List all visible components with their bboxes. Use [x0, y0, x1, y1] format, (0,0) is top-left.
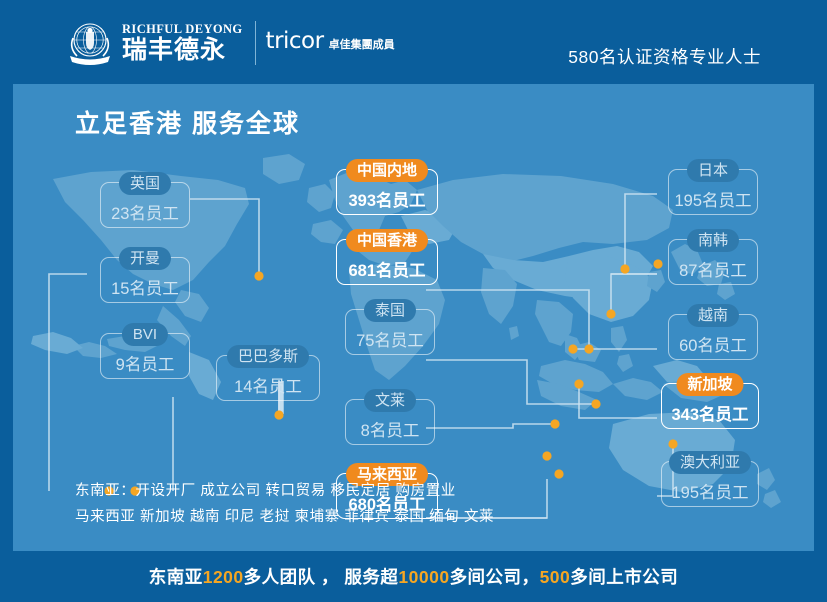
location-name: 澳大利亚	[669, 451, 751, 474]
logo-english-name: RICHFUL DEYONG	[122, 22, 243, 36]
location-count: 15名员工	[101, 281, 189, 298]
footer-number-2: 10000	[398, 567, 449, 587]
notes-block: 东南亚：开设开厂 成立公司 转口贸易 移民定居 购房置业 马来西亚 新加坡 越南…	[75, 478, 494, 530]
location-count: 8名员工	[346, 423, 434, 440]
location-count: 23名员工	[101, 206, 189, 223]
location-count: 195名员工	[662, 485, 758, 502]
location-count: 681名员工	[337, 263, 437, 280]
location-card-brunei[interactable]: 文莱 8名员工	[345, 399, 435, 445]
location-count: 343名员工	[662, 407, 758, 424]
location-card-australia[interactable]: 澳大利亚 195名员工	[661, 461, 759, 507]
footer-number-1: 1200	[203, 567, 244, 587]
location-count: 14名员工	[217, 379, 319, 396]
location-count: 87名员工	[669, 263, 757, 280]
location-card-china-mainland[interactable]: 中国内地 393名员工	[336, 169, 438, 215]
logo-wordmark: RICHFUL DEYONG 瑞丰德永	[122, 22, 243, 64]
location-name: 新加坡	[676, 373, 743, 396]
footer-seg-1: 东南亚	[149, 567, 203, 587]
location-name: 越南	[687, 304, 739, 327]
world-map-panel: 立足香港 服务全球 .land { fill:#5ea3cf; } .land2…	[13, 84, 814, 551]
location-count: 195名员工	[669, 193, 757, 210]
location-card-bvi[interactable]: BVI 9名员工	[100, 333, 190, 379]
location-count: 60名员工	[669, 338, 757, 355]
location-card-vietnam[interactable]: 越南 60名员工	[668, 314, 758, 360]
location-name: 日本	[687, 159, 739, 182]
location-card-south-korea[interactable]: 南韩 87名员工	[668, 239, 758, 285]
footer-seg-2: 多人团队 ， 服务超	[244, 567, 399, 587]
location-name: 中国香港	[346, 229, 428, 252]
shield-crest-logo-icon	[64, 18, 116, 68]
location-name: 文莱	[364, 389, 416, 412]
page-header: RICHFUL DEYONG 瑞丰德永 tricor 卓佳集團成員 580名认证…	[0, 0, 827, 84]
footer-summary: 东南亚1200多人团队 ， 服务超10000多间公司，500多间上市公司	[149, 564, 679, 589]
header-tagline: 580名认证资格专业人士	[568, 44, 761, 69]
location-card-thailand[interactable]: 泰国 75名员工	[345, 309, 435, 355]
partner-subtitle: 卓佳集團成員	[329, 37, 395, 53]
location-name: 南韩	[687, 229, 739, 252]
location-card-hong-kong[interactable]: 中国香港 681名员工	[336, 239, 438, 285]
notes-line-1: 东南亚：开设开厂 成立公司 转口贸易 移民定居 购房置业	[75, 478, 494, 504]
location-card-cayman[interactable]: 开曼 15名员工	[100, 257, 190, 303]
logo-chinese-name: 瑞丰德永	[122, 36, 243, 64]
location-card-uk[interactable]: 英国 23名员工	[100, 182, 190, 228]
location-name: 巴巴多斯	[227, 345, 309, 368]
location-name: 开曼	[119, 247, 171, 270]
location-card-singapore[interactable]: 新加坡 343名员工	[661, 383, 759, 429]
location-name: 泰国	[364, 299, 416, 322]
partner-logo: tricor 卓佳集團成員	[266, 29, 395, 57]
location-count: 9名员工	[101, 357, 189, 374]
location-count: 75名员工	[346, 333, 434, 350]
footer-number-3: 500	[540, 567, 571, 587]
notes-line-2: 马来西亚 新加坡 越南 印尼 老挝 柬埔寨 菲律宾 泰国 缅甸 文莱	[75, 504, 494, 530]
location-count: 393名员工	[337, 193, 437, 210]
location-card-japan[interactable]: 日本 195名员工	[668, 169, 758, 215]
footer-seg-3: 多间公司，	[450, 567, 540, 587]
location-name: BVI	[122, 323, 168, 346]
location-name: 英国	[119, 172, 171, 195]
partner-name: tricor	[266, 29, 324, 53]
location-card-barbados[interactable]: 巴巴多斯 14名员工	[216, 355, 320, 401]
logo-divider	[255, 21, 256, 65]
footer-seg-4: 多间上市公司	[570, 567, 678, 587]
page-footer: 东南亚1200多人团队 ， 服务超10000多间公司，500多间上市公司	[0, 551, 827, 602]
location-name: 中国内地	[346, 159, 428, 182]
brand-logo[interactable]: RICHFUL DEYONG 瑞丰德永 tricor 卓佳集團成員	[64, 18, 395, 68]
